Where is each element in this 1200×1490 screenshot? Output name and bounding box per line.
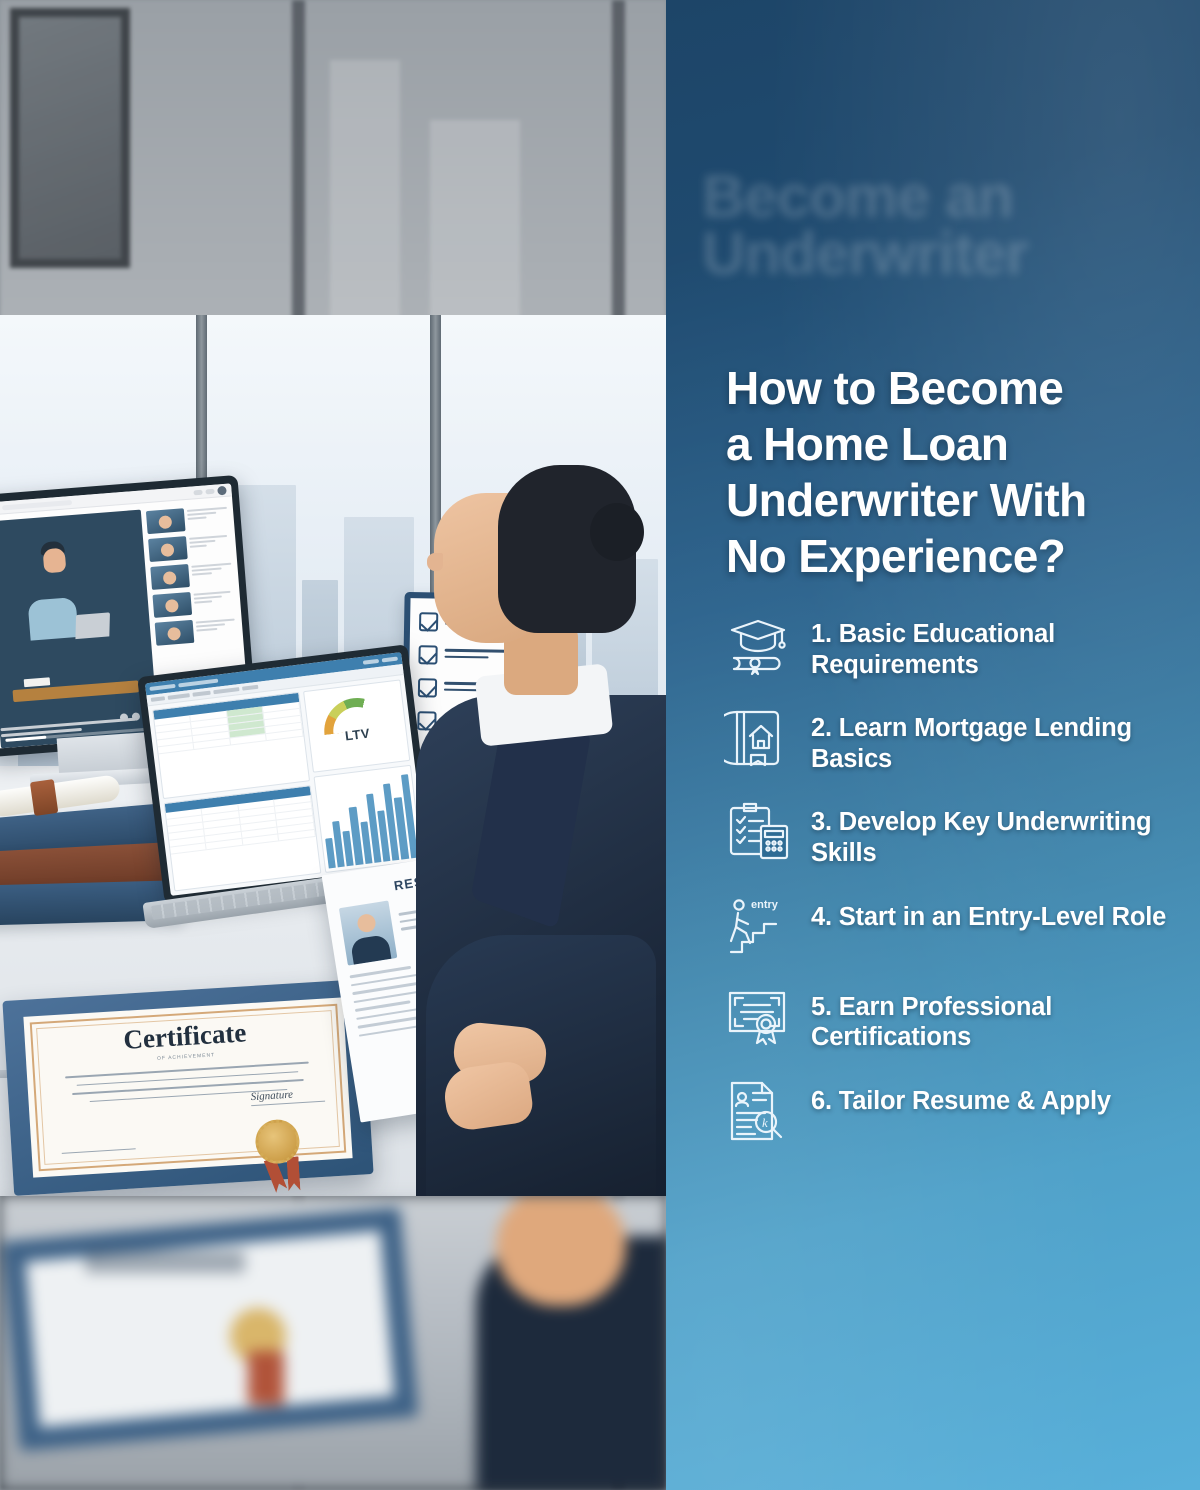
spreadsheet-table <box>152 692 309 799</box>
ltv-gauge: LTV <box>303 679 411 772</box>
book-house-icon <box>724 706 794 770</box>
photo-column: LTV <box>0 0 666 1490</box>
list-item-step-2[interactable]: 2. Learn Mortgage Lending Basics <box>724 706 1194 774</box>
step-label: 5. Earn Professional Certifications <box>811 985 1194 1053</box>
svg-text:entry: entry <box>751 899 779 911</box>
list-item-step-5[interactable]: 5. Earn Professional Certifications <box>724 985 1194 1053</box>
list-item <box>152 588 237 617</box>
list-item-step-6[interactable]: k 6. Tailor Resume & Apply <box>724 1079 1194 1143</box>
list-item-step-3[interactable]: 3. Develop Key Underwriting Skills <box>724 800 1194 868</box>
hero-photo: LTV <box>0 315 666 1196</box>
watermark-heading: Become an Underwriter <box>702 168 1200 282</box>
person-climbing-stairs-icon: entry <box>724 895 794 959</box>
step-label: 3. Develop Key Underwriting Skills <box>811 800 1194 868</box>
content-panel: Become an Underwriter How to Become a Ho… <box>666 0 1200 1490</box>
svg-text:k: k <box>762 1115 768 1130</box>
video-player <box>0 510 159 749</box>
step-label: 4. Start in an Entry-Level Role <box>811 895 1166 933</box>
clipboard-calculator-icon <box>724 800 794 864</box>
resume-magnifier-icon: k <box>724 1079 794 1143</box>
step-label: 1. Basic Educational Requirements <box>811 612 1194 680</box>
list-item-step-4[interactable]: entry 4. Start in an Entry-Level Role <box>724 895 1194 959</box>
blurred-certificate-footer <box>0 1196 666 1490</box>
certificate-award-icon <box>724 985 794 1049</box>
steps-list: 1. Basic Educational Requirements 2. Le <box>724 612 1194 1169</box>
certificate: Certificate OF ACHIEVEMENT Signature <box>2 979 373 1196</box>
ltv-gauge-label: LTV <box>344 725 371 743</box>
page-title: How to Become a Home Loan Underwriter Wi… <box>726 360 1186 584</box>
list-item-step-1[interactable]: 1. Basic Educational Requirements <box>724 612 1194 680</box>
infographic-canvas: LTV <box>0 0 1200 1490</box>
list-item <box>146 505 231 534</box>
graduation-cap-diploma-icon <box>724 612 794 676</box>
resume-headshot <box>339 900 397 965</box>
list-item <box>150 560 235 589</box>
step-label: 2. Learn Mortgage Lending Basics <box>811 706 1194 774</box>
list-item <box>155 616 240 645</box>
spreadsheet-table <box>164 785 321 892</box>
list-item <box>148 533 233 562</box>
backdrop-picture-frame <box>10 8 130 268</box>
step-label: 6. Tailor Resume & Apply <box>811 1079 1111 1117</box>
underwriter-person <box>396 465 666 1196</box>
